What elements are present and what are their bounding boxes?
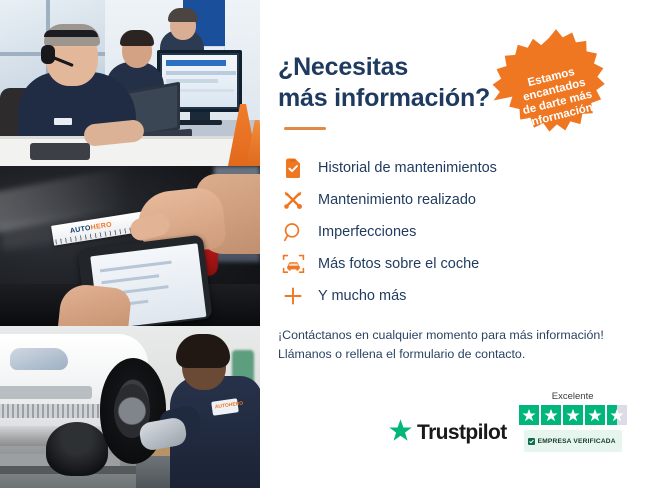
background-person-hair <box>168 8 198 22</box>
trustpilot-wordmark: Trustpilot <box>417 421 507 445</box>
feature-label: Imperfecciones <box>318 225 416 240</box>
star-filled <box>519 405 539 425</box>
badge-content: Estamos encantados de darte más informac… <box>492 28 620 156</box>
car-grille-lower <box>0 404 104 418</box>
star-filled <box>541 405 561 425</box>
feature-item-mantenimiento-realizado: Mantenimiento realizado <box>278 184 628 216</box>
feature-item-imperfecciones: Imperfecciones <box>278 216 628 248</box>
verified-company-badge: EMPRESA VERIFICADA <box>524 430 622 452</box>
feature-label: Mantenimiento realizado <box>318 193 476 208</box>
promo-card: AUTOHERO <box>0 0 650 488</box>
uniform-logo-text: AUTOHERO <box>215 402 236 413</box>
feature-label: Y mucho más <box>318 289 406 304</box>
car-scan-icon <box>278 249 308 279</box>
photo-mechanic-inspecting-wheel: AUTOHERO <box>0 326 260 488</box>
tablet-screen-row <box>101 274 159 284</box>
magnifier-icon <box>278 217 308 247</box>
tools-cross-icon <box>278 185 308 215</box>
trustpilot-logo[interactable]: Trustpilot <box>388 418 507 452</box>
contact-paragraph-line-2: Llámanos o rellena el formulario de cont… <box>278 345 628 364</box>
screen-header-bar <box>166 60 226 66</box>
photo-column: AUTOHERO <box>0 0 260 488</box>
verified-check-icon <box>528 432 535 450</box>
headline-line-2: más información? <box>278 83 508 114</box>
mechanic-hair <box>176 334 230 368</box>
car-headlight <box>10 348 68 370</box>
star-filled <box>563 405 583 425</box>
document-check-icon <box>278 153 308 183</box>
star-rating <box>519 405 627 425</box>
verified-label: EMPRESA VERIFICADA <box>538 438 616 445</box>
second-agent-hair <box>120 30 154 46</box>
trustpilot-rating: Excelente <box>519 391 627 452</box>
contact-paragraph-line-1: ¡Contáctanos en cualquier momento para m… <box>278 326 628 345</box>
screen-row <box>166 71 236 75</box>
feature-list: Historial de mantenimientos M <box>278 152 628 312</box>
feature-item-mas-fotos-sobre-el-coche: Más fotos sobre el coche <box>278 248 628 280</box>
photo-vehicle-inspection-ruler-tablet: AUTOHERO <box>0 166 260 326</box>
promo-starburst-badge: Estamos encantados de darte más informac… <box>492 28 620 156</box>
rear-tire <box>46 422 108 476</box>
contact-paragraph: ¡Contáctanos en cualquier momento para m… <box>278 326 628 364</box>
employee-name-badge <box>54 118 72 125</box>
trustpilot-rating-block[interactable]: Trustpilot Excelente <box>388 391 627 452</box>
feature-label: Historial de mantenimientos <box>318 161 497 176</box>
page-title: ¿Necesitas más información? <box>278 52 508 113</box>
tablet-screen-row <box>100 261 172 273</box>
monitor-base <box>178 120 222 125</box>
plus-icon <box>278 281 308 311</box>
headline-line-1: ¿Necesitas <box>278 52 508 83</box>
feature-item-historial-de-mantenimientos: Historial de mantenimientos <box>278 152 628 184</box>
feature-label: Más fotos sobre el coche <box>318 257 479 272</box>
photo-call-center-agents-with-headsets <box>0 0 260 166</box>
car-grille-upper <box>0 386 92 399</box>
headset-band <box>44 30 98 37</box>
star-half-filled <box>607 405 627 425</box>
feature-item-y-mucho-mas: Y mucho más <box>278 280 628 312</box>
title-divider <box>284 127 326 130</box>
desk-tablet <box>30 143 90 160</box>
badge-text: Estamos encantados de darte más informac… <box>503 60 609 133</box>
trustpilot-star-icon <box>388 418 413 447</box>
star-filled <box>585 405 605 425</box>
headset-earcup <box>41 45 55 64</box>
rating-label: Excelente <box>552 391 594 402</box>
